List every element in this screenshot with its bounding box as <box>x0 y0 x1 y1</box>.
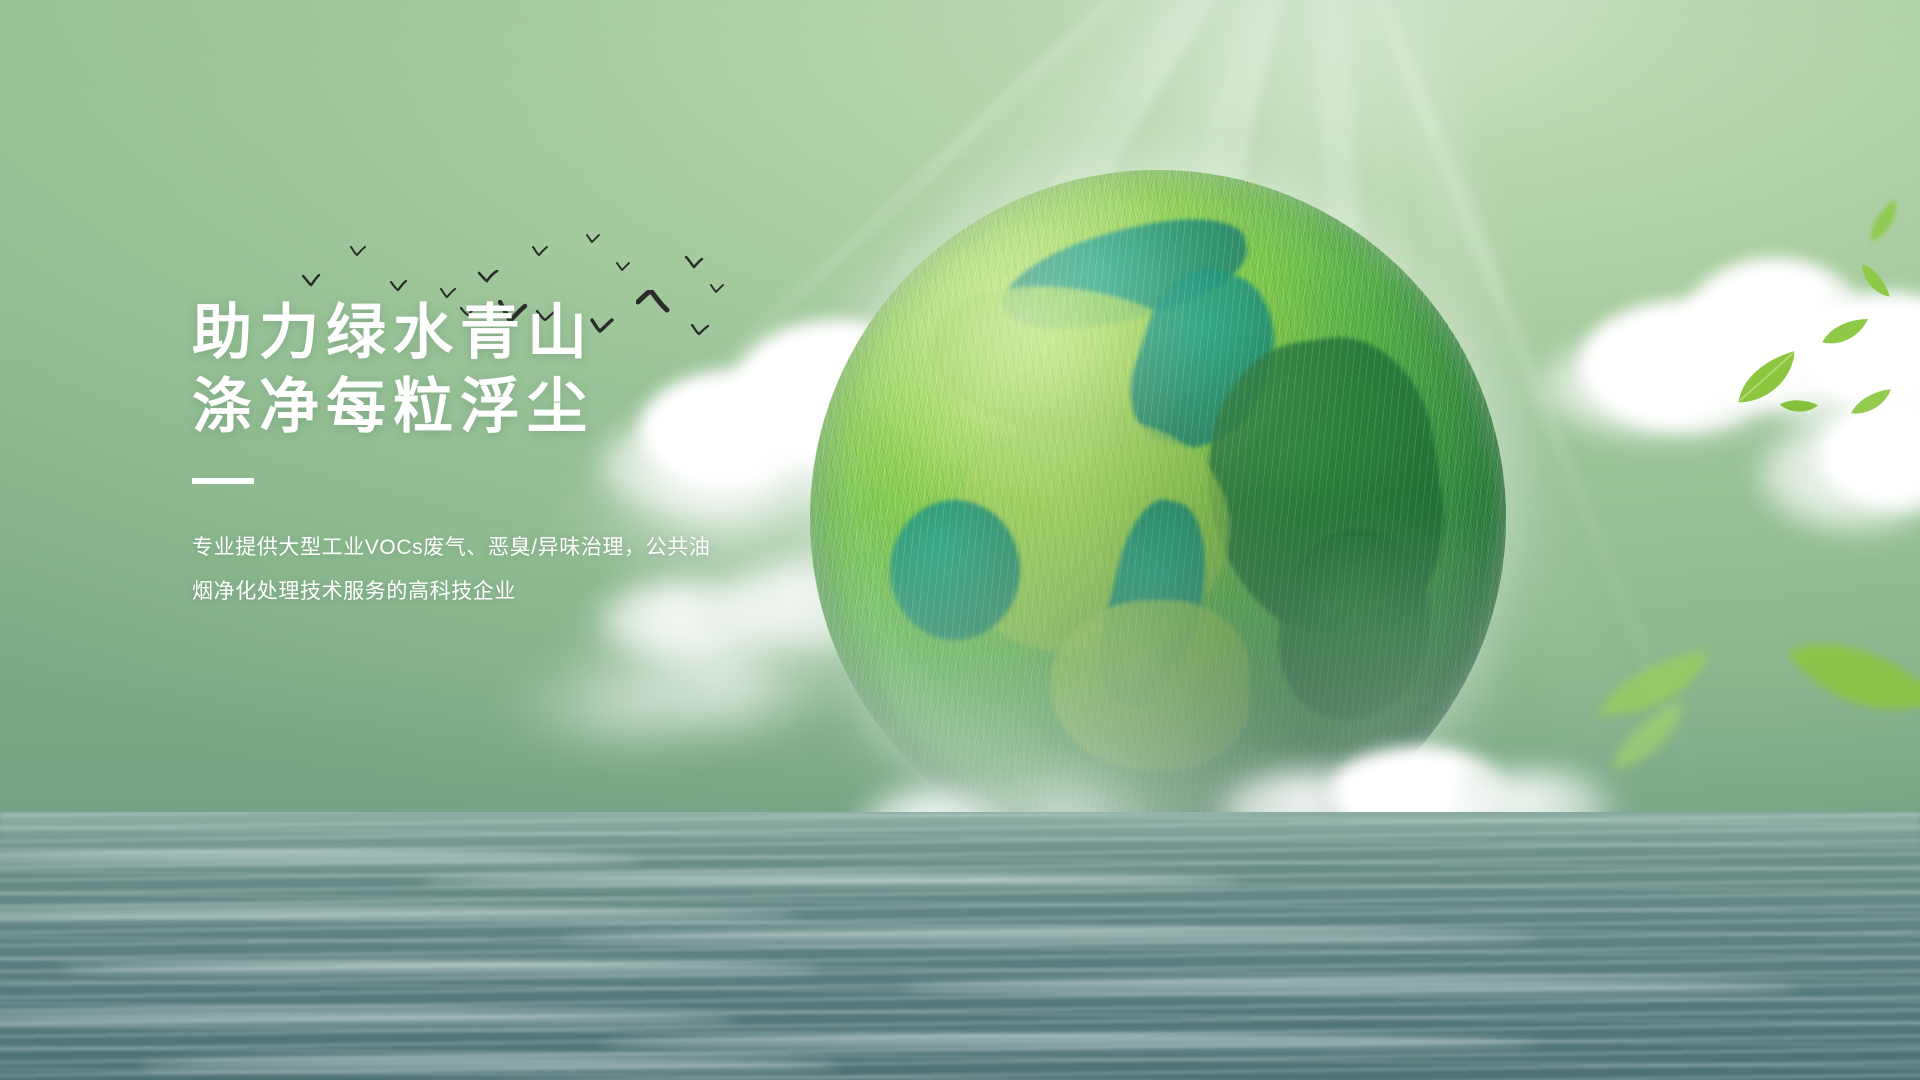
page-title-line-1: 助力绿水青山 <box>192 296 952 370</box>
bird-icon <box>616 262 632 273</box>
water-wave <box>420 874 1240 890</box>
bird-icon <box>586 234 602 245</box>
hero-banner: 助力绿水青山 涤净每粒浮尘 专业提供大型工业VOCs废气、恶臭/异味治理，公共油… <box>0 0 1920 1080</box>
water-wave <box>60 962 820 978</box>
water-wave <box>900 980 1800 996</box>
bird-icon <box>710 284 726 295</box>
bird-icon <box>350 246 368 258</box>
hero-subtitle: 专业提供大型工业VOCs废气、恶臭/异味治理，公共油烟净化处理技术服务的高科技企… <box>192 526 732 614</box>
bird-icon <box>684 256 704 270</box>
bird-icon <box>478 270 500 284</box>
hero-copy: 助力绿水青山 涤净每粒浮尘 专业提供大型工业VOCs废气、恶臭/异味治理，公共油… <box>192 296 952 635</box>
water-wave <box>560 930 1540 946</box>
bird-icon <box>302 274 324 288</box>
water-wave <box>600 1036 1540 1052</box>
page-title-line-2: 涤净每粒浮尘 <box>192 370 952 444</box>
bird-icon <box>390 280 410 293</box>
bird-icon <box>532 246 550 258</box>
title-divider <box>192 478 254 484</box>
water-wave <box>140 1058 840 1074</box>
water-surface <box>0 812 1920 1080</box>
